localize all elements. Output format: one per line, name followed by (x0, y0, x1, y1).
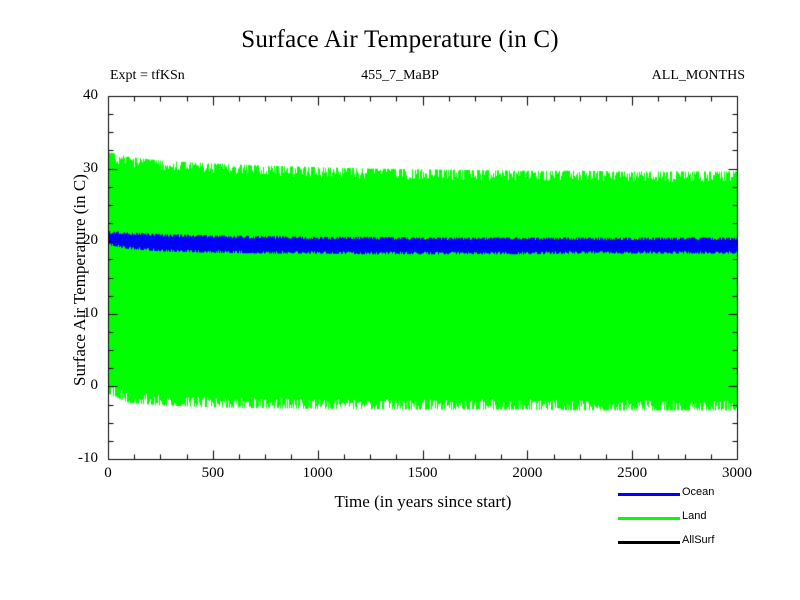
x-tick-label: 1500 (383, 465, 463, 482)
y-tick-label: 0 (46, 377, 98, 394)
months-label: ALL_MONTHS (652, 68, 745, 84)
x-tick-label: 500 (173, 465, 253, 482)
x-tick-label: 2500 (592, 465, 672, 482)
x-tick-label: 3000 (697, 465, 777, 482)
y-tick-label: 10 (46, 305, 98, 322)
legend-swatch-ocean (618, 493, 680, 496)
legend-swatch-land (618, 517, 680, 520)
chart-legend: OceanLandAllSurf (618, 484, 793, 556)
y-axis-title: Surface Air Temperature (in C) (70, 98, 90, 462)
x-tick-label: 1000 (278, 465, 358, 482)
legend-item-allsurf: AllSurf (618, 532, 793, 556)
legend-label: Land (682, 509, 706, 523)
y-tick-label: 20 (46, 232, 98, 249)
legend-item-land: Land (618, 508, 793, 532)
page-title: Surface Air Temperature (in C) (0, 26, 800, 54)
x-tick-label: 2000 (487, 465, 567, 482)
experiment-label: Expt = tfKSn (110, 68, 185, 84)
legend-label: Ocean (682, 485, 714, 499)
y-tick-label: 30 (46, 160, 98, 177)
legend-label: AllSurf (682, 533, 714, 547)
y-tick-label: 40 (46, 87, 98, 104)
x-tick-label: 0 (68, 465, 148, 482)
legend-item-ocean: Ocean (618, 484, 793, 508)
legend-swatch-allsurf (618, 541, 680, 544)
chart-page: Surface Air Temperature (in C) 455_7_MaB… (0, 0, 800, 600)
